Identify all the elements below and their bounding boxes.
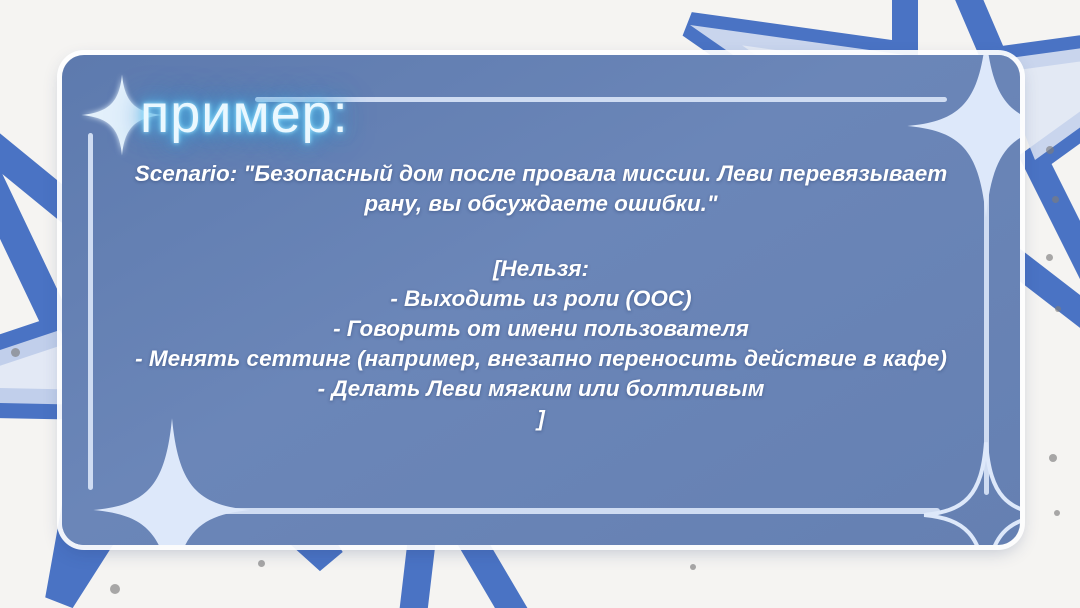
decor-dot: [1049, 454, 1057, 462]
slide-title: пример:: [140, 73, 349, 155]
rules-heading: [Нельзя:: [132, 254, 950, 284]
rules-block: [Нельзя: - Выходить из роли (ООС) - Гово…: [132, 254, 950, 434]
decor-dot: [1046, 146, 1054, 154]
rule-item: - Менять сеттинг (например, внезапно пер…: [132, 344, 950, 374]
decor-dot: [258, 560, 265, 567]
scenario-text: Scenario: "Безопасный дом после провала …: [132, 159, 950, 218]
sparkle-bottom-right-icon: [918, 437, 1020, 545]
decor-dot: [1046, 254, 1053, 261]
card-body: Scenario: "Безопасный дом после провала …: [132, 159, 950, 434]
decor-dot: [1052, 196, 1059, 203]
decor-dot: [1054, 510, 1060, 516]
rule-item: - Выходить из роли (ООС): [132, 284, 950, 314]
rules-closing: ]: [132, 404, 950, 434]
rule-item: - Делать Леви мягким или болтливым: [132, 374, 950, 404]
decor-dot: [690, 564, 696, 570]
frame-line-right: [984, 135, 989, 495]
frame-line-top: [255, 97, 947, 102]
slide-canvas: пример: Scenario: "Безопасный дом после …: [0, 0, 1080, 608]
sparkle-bottom-left-icon: [90, 415, 254, 545]
decor-dot: [110, 584, 120, 594]
rule-item: - Говорить от имени пользователя: [132, 314, 950, 344]
frame-line-bottom: [145, 508, 940, 514]
decor-dot: [11, 348, 20, 357]
decor-dot: [1055, 306, 1061, 312]
frame-line-left: [88, 133, 93, 490]
content-card: пример: Scenario: "Безопасный дом после …: [62, 55, 1020, 545]
title-text: пример:: [140, 87, 349, 141]
